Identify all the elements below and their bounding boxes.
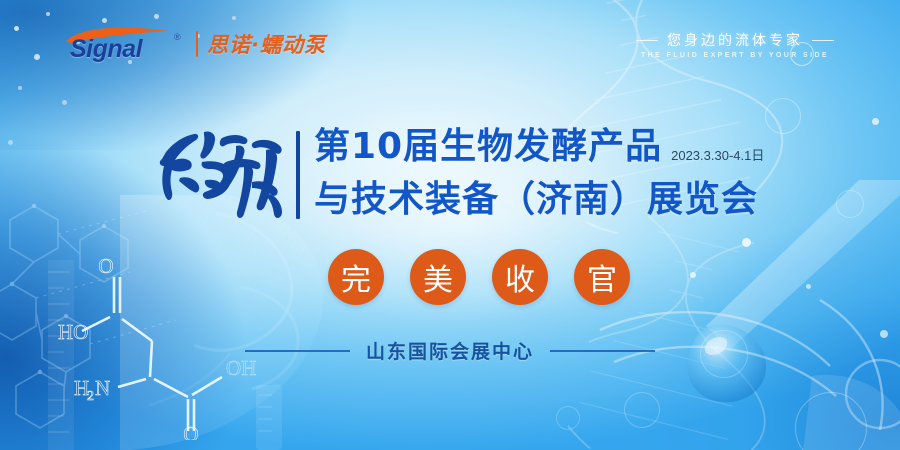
event-title-line1: 第10届生物发酵产品 xyxy=(314,125,662,169)
slogan-rule-right xyxy=(812,40,834,41)
sparkle-dot xyxy=(46,12,50,16)
venue-rule-right xyxy=(550,350,655,352)
svg-text:N: N xyxy=(95,376,110,400)
slogan-chinese: 您身边的流体专家 xyxy=(667,30,803,50)
brand-logo[interactable]: Signal ® 思诺·蠕动泵 xyxy=(62,24,326,64)
brand-slogan: 您身边的流体专家 THE FLUID EXPERT BY YOUR SIDE xyxy=(620,30,850,59)
slogan-badges: 完 美 收 官 xyxy=(328,249,630,305)
event-date: 2023.3.30-4.1日 xyxy=(671,145,764,164)
badge-guan: 官 xyxy=(574,249,630,305)
bokeh-ring xyxy=(624,392,660,428)
slogan-english: THE FLUID EXPERT BY YOUR SIDE xyxy=(620,52,850,59)
beaker-icon xyxy=(238,385,308,450)
badge-shou: 收 xyxy=(492,249,548,305)
sparkle-dot xyxy=(8,140,13,145)
sparkle-dot xyxy=(14,26,19,31)
bokeh-dot xyxy=(690,272,696,278)
logo-wordmark: Signal xyxy=(70,35,142,64)
logo-separator xyxy=(196,31,198,57)
sparkle-dot xyxy=(154,14,159,19)
sparkle-dot xyxy=(232,16,236,20)
event-title: 第10届生物发酵产品 2023.3.30-4.1日 与技术装备（济南）展览会 xyxy=(314,125,764,223)
venue-name: 山东国际会展中心 xyxy=(366,337,534,364)
sparkle-dot xyxy=(18,86,22,90)
exhibition-banner: O HO H 2 N O OH xyxy=(0,0,900,450)
bokeh-dot xyxy=(872,118,879,125)
venue-rule-left xyxy=(245,350,350,352)
badge-wan: 完 xyxy=(328,249,384,305)
bokeh-ring xyxy=(556,406,580,430)
slogan-rule-left xyxy=(636,40,658,41)
venue-block: 山东国际会展中心 xyxy=(0,337,900,364)
svg-text:O: O xyxy=(98,254,113,278)
logo-mark: Signal ® xyxy=(62,24,174,64)
sparkle-dot xyxy=(102,18,107,23)
bokeh-dot xyxy=(742,238,751,247)
registered-mark-icon: ® xyxy=(174,32,181,42)
bokeh-ring xyxy=(765,98,801,134)
sparkle-dot xyxy=(62,100,67,105)
bokeh-dot xyxy=(806,284,811,289)
badge-mei: 美 xyxy=(410,249,466,305)
svg-text:2: 2 xyxy=(87,389,94,404)
bokeh-ring xyxy=(836,190,864,218)
sparkle-dot xyxy=(34,54,40,60)
event-title-line2: 与技术装备（济南）展览会 xyxy=(314,177,764,223)
calligraphy-chuangxin xyxy=(158,122,288,226)
logo-chinese-name: 思诺·蠕动泵 xyxy=(207,29,326,59)
svg-text:O: O xyxy=(183,422,198,440)
title-divider xyxy=(296,131,300,219)
